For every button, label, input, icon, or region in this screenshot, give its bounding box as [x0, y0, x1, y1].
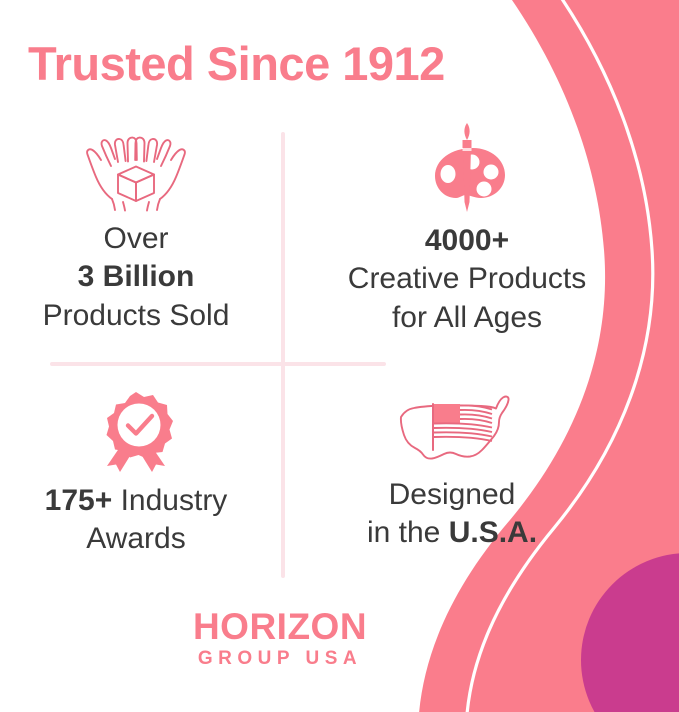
- divider-vertical: [281, 132, 285, 578]
- feature-line-3: U.S.A.: [449, 516, 537, 549]
- paint-brush: [464, 123, 469, 140]
- page-title: Trusted Since 1912: [28, 36, 445, 91]
- feature-industry-awards: 175+ Industry Awards: [0, 390, 272, 559]
- feature-line-1: Designed: [367, 476, 537, 514]
- award-ribbon-icon: [92, 390, 180, 476]
- feature-text: Designed in the U.S.A.: [367, 476, 537, 553]
- feature-line-2: Creative Products: [348, 260, 586, 298]
- feature-designed-in-usa: Designed in the U.S.A.: [292, 390, 612, 553]
- divider-horizontal: [50, 362, 386, 366]
- feature-text: 175+ Industry Awards: [45, 482, 228, 559]
- paint-palette-icon: [421, 122, 513, 216]
- feature-line-combined: 175+ Industry: [45, 482, 228, 520]
- hands-holding-box-icon: [77, 132, 195, 214]
- feature-products-sold: Over 3 Billion Products Sold: [0, 132, 272, 335]
- flag-canton: [434, 404, 460, 423]
- feature-creative-products: 4000+ Creative Products for All Ages: [292, 122, 642, 337]
- brand-logo: HORIZON GROUP USA: [0, 608, 560, 668]
- magenta-circle: [581, 553, 679, 712]
- feature-line-1: 4000+: [348, 222, 586, 260]
- logo-tagline: GROUP USA: [0, 649, 560, 668]
- feature-line-3: Products Sold: [43, 297, 230, 335]
- feature-line-2: in the: [367, 516, 440, 549]
- feature-text: 4000+ Creative Products for All Ages: [348, 222, 586, 337]
- white-hairline-stroke: [466, 0, 653, 712]
- feature-line-2: 3 Billion: [43, 258, 230, 296]
- feature-line-3: for All Ages: [348, 299, 586, 337]
- pink-swoosh-curve: [418, 0, 679, 712]
- usa-map-flag-icon: [388, 390, 516, 470]
- feature-line-2-wrap: Industry: [112, 484, 227, 517]
- feature-line-1: 175+: [45, 484, 113, 517]
- feature-line-1: Over: [43, 220, 230, 258]
- feature-line-3: Awards: [45, 520, 228, 558]
- infographic-canvas: Trusted Since 1912: [0, 0, 679, 712]
- logo-wordmark: HORIZON: [0, 608, 560, 645]
- feature-line-combined: in the U.S.A.: [367, 514, 537, 552]
- feature-text: Over 3 Billion Products Sold: [43, 220, 230, 335]
